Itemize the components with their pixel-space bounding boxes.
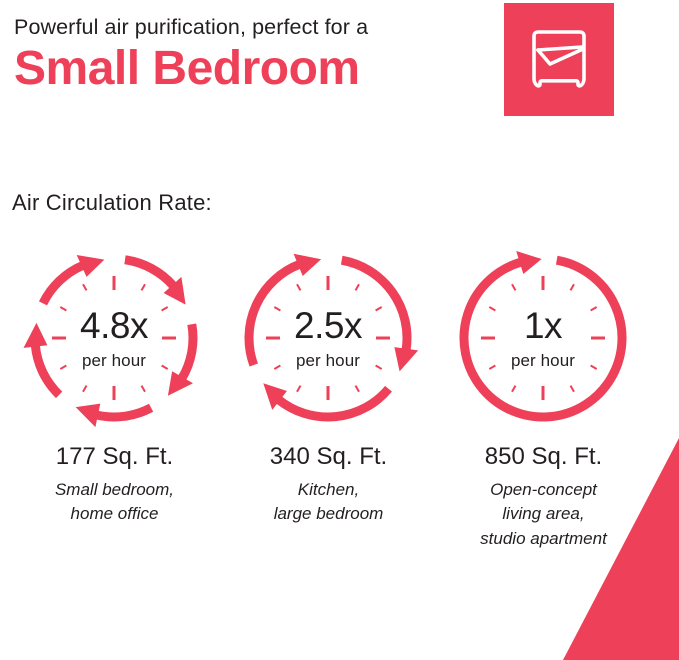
caption-description: Open-concept living area, studio apartme… [436,478,651,552]
caption-line: Kitchen, [221,478,436,503]
circulation-arrows [249,254,418,417]
rate-dial-3: 1x per hour [443,238,643,438]
rate-dial-2-graphic [228,238,428,438]
caption-line: Open-concept [436,478,651,503]
caption-area: 340 Sq. Ft. [221,443,436,471]
caption-line: home office [7,502,222,527]
rate-dial-1: 4.8x per hour [14,238,214,438]
rate-dial-1-graphic [14,238,214,438]
caption-line: studio apartment [436,527,651,552]
caption-line: large bedroom [221,502,436,527]
clock-ticks [266,276,390,400]
caption-3: 850 Sq. Ft. Open-concept living area, st… [436,443,651,552]
circulation-arrows [24,255,193,427]
caption-description: Kitchen, large bedroom [221,478,436,527]
caption-area: 177 Sq. Ft. [7,443,222,471]
caption-1: 177 Sq. Ft. Small bedroom, home office [7,443,222,527]
section-title: Air Circulation Rate: [12,190,212,216]
rate-dial-2: 2.5x per hour [228,238,428,438]
caption-line: Small bedroom, [7,478,222,503]
caption-description: Small bedroom, home office [7,478,222,527]
icon-badge [504,3,614,116]
caption-2: 340 Sq. Ft. Kitchen, large bedroom [221,443,436,527]
rate-dial-3-graphic [443,238,643,438]
caption-line: living area, [436,502,651,527]
infographic-canvas: Powerful air purification, perfect for a… [0,0,679,660]
clock-ticks [52,276,176,400]
caption-area: 850 Sq. Ft. [436,443,651,471]
clock-ticks [481,276,605,400]
circulation-rate-group: 4.8x per hour 2.5x per hour 1x per hour [0,238,679,438]
